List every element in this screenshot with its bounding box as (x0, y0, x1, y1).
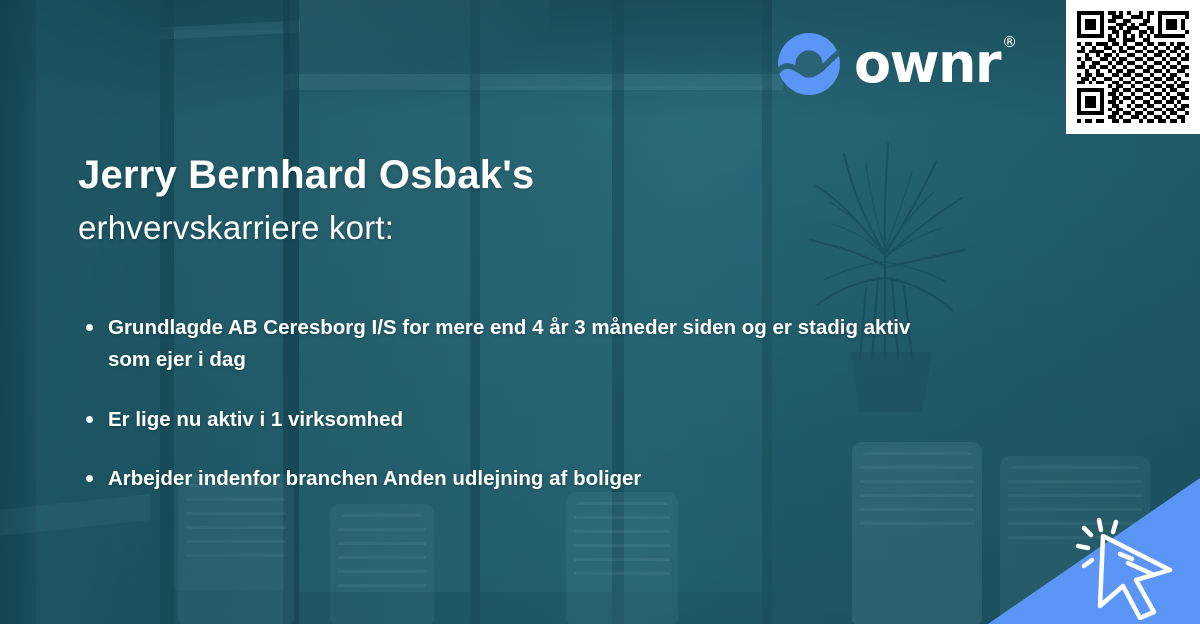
career-fact-text: Arbejder indenfor branchen Anden udlejni… (108, 467, 641, 490)
page-title: Jerry Bernhard Osbak's erhvervskarriere … (78, 152, 534, 248)
qr-code (1077, 11, 1189, 123)
bullet-dot-icon (86, 416, 93, 423)
registered-trademark-icon: ® (1002, 33, 1017, 51)
career-fact-text: Grundlagde AB Ceresborg I/S for mere end… (108, 316, 910, 371)
headline-name: Jerry Bernhard Osbak's (78, 152, 534, 199)
ownr-logo[interactable]: ownr® (778, 33, 1017, 95)
career-facts-list: Grundlagde AB Ceresborg I/S for mere end… (82, 312, 922, 495)
career-fact-item: Grundlagde AB Ceresborg I/S for mere end… (82, 312, 922, 376)
qr-code-panel[interactable] (1066, 0, 1200, 134)
bullet-dot-icon (86, 324, 93, 331)
bullet-dot-icon (86, 475, 93, 482)
ownr-circular-swirl-logo (778, 33, 840, 95)
headline-subtitle: erhvervskarriere kort: (78, 207, 534, 248)
career-fact-item: Er lige nu aktiv i 1 virksomhed (82, 404, 922, 436)
ownr-career-card: ownr® Jerry Bernhard Osbak's erhvervskar… (0, 0, 1200, 624)
career-fact-text: Er lige nu aktiv i 1 virksomhed (108, 408, 403, 431)
career-fact-item: Arbejder indenfor branchen Anden udlejni… (82, 463, 922, 495)
ownr-wordmark-text: ownr (854, 32, 1000, 95)
ownr-wordmark: ownr® (854, 37, 1017, 91)
click-cursor-icon (1070, 508, 1190, 620)
